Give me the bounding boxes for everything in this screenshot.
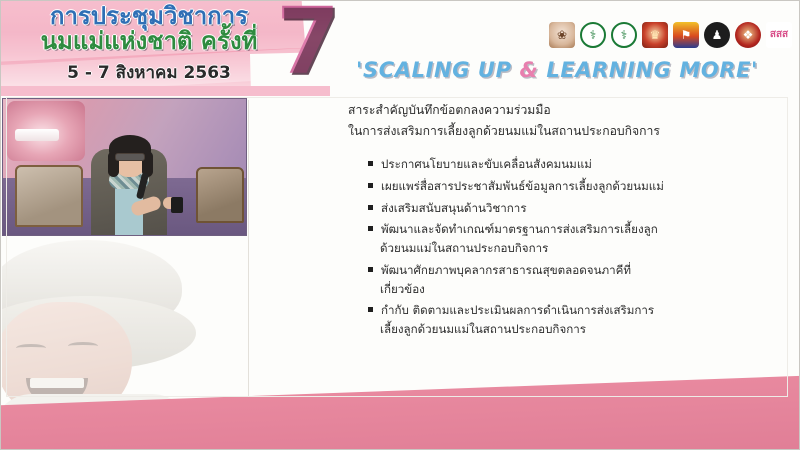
logo-thai-institute-icon: ♟: [704, 22, 730, 48]
bullet-text-primary: กำกับ ติดตามและประเมินผลการดำเนินการส่งเ…: [381, 303, 654, 317]
child-photo-watermark: [2, 238, 247, 408]
bullet-text-continuation: ด้วยนมแม่ในสถานประกอบกิจการ: [380, 239, 780, 258]
slide-content: สาระสำคัญบันทึกข้อตกลงความร่วมมือ ในการส…: [260, 100, 780, 390]
edition-number: 7: [276, 0, 340, 88]
bullet-text-primary: เผยแพร่สื่อสารประชาสัมพันธ์ข้อมูลการเลี้…: [381, 179, 664, 193]
logo-royal-crest-icon: ♛: [642, 22, 668, 48]
column-divider: [248, 100, 249, 400]
media-column: [2, 98, 247, 408]
bullet-text-primary: พัฒนาศักยภาพบุคลากรสาธารณสุขตลอดจนภาคีที…: [381, 263, 631, 277]
logo-health-department-icon: ⚕: [611, 22, 637, 48]
logo-national-emblem-icon: ⚑: [673, 22, 699, 48]
logo-ministry-public-health-icon: ⚕: [580, 22, 606, 48]
child-teeth: [30, 378, 84, 388]
bullet-text-continuation: เลี้ยงลูกด้วยนมแม่ในสถานประกอบกิจการ: [380, 320, 780, 339]
stage-chair-right: [196, 167, 244, 223]
content-heading-line1: สาระสำคัญบันทึกข้อตกลงความร่วมมือ: [348, 100, 780, 121]
speaker-remote-clicker: [171, 197, 183, 213]
child-eye-left: [16, 344, 46, 352]
bullet-text-primary: ประกาศนโยบายและขับเคลื่อนสังคมนมแม่: [381, 157, 592, 171]
list-item: พัฒนาศักยภาพบุคลากรสาธารณสุขตลอดจนภาคีที…: [368, 261, 780, 299]
speaker-glasses: [115, 153, 145, 161]
list-item: กำกับ ติดตามและประเมินผลการดำเนินการส่งเ…: [368, 301, 780, 339]
conference-title-block: การประชุมวิชาการ นมแม่แห่งชาติ ครั้งที่ …: [14, 4, 284, 86]
logo-royal-seal-icon: ❀: [549, 22, 575, 48]
list-item: เผยแพร่สื่อสารประชาสัมพันธ์ข้อมูลการเลี้…: [368, 177, 780, 196]
logo-university-crest-icon: ❖: [735, 22, 761, 48]
tagline-prefix: 'SCALING UP: [356, 58, 520, 82]
agreement-bullet-list: ประกาศนโยบายและขับเคลื่อนสังคมนมแม่ เผยแ…: [260, 155, 780, 339]
content-heading: สาระสำคัญบันทึกข้อตกลงความร่วมมือ ในการส…: [260, 100, 780, 142]
conference-tagline: 'SCALING UP & LEARNING MORE': [356, 58, 758, 82]
conference-title-line2: นมแม่แห่งชาติ ครั้งที่: [14, 29, 284, 55]
partner-logo-row: ❀ ⚕ ⚕ ♛ ⚑ ♟ ❖ สสส: [549, 22, 792, 48]
bullet-text-primary: ส่งเสริมสนับสนุนด้านวิชาการ: [381, 201, 527, 215]
slide-header-banner: การประชุมวิชาการ นมแม่แห่งชาติ ครั้งที่ …: [0, 0, 800, 96]
list-item: ส่งเสริมสนับสนุนด้านวิชาการ: [368, 199, 780, 218]
list-item: พัฒนาและจัดทำเกณฑ์มาตรฐานการส่งเสริมการเ…: [368, 220, 780, 258]
stage-chair-left: [15, 165, 83, 227]
tagline-ampersand: &: [520, 58, 539, 82]
conference-date: 5 - 7 สิงหาคม 2563: [14, 59, 284, 86]
tagline-suffix: LEARNING MORE': [538, 58, 758, 82]
content-heading-line2: ในการส่งเสริมการเลี้ยงลูกด้วยนมแม่ในสถาน…: [348, 121, 780, 142]
bullet-text-continuation: เกี่ยวข้อง: [380, 280, 780, 299]
list-item: ประกาศนโยบายและขับเคลื่อนสังคมนมแม่: [368, 155, 780, 174]
backdrop-poster-teeth: [15, 129, 59, 141]
bullet-text-primary: พัฒนาและจัดทำเกณฑ์มาตรฐานการส่งเสริมการเ…: [381, 222, 658, 236]
child-eye-right: [68, 342, 98, 350]
speaker-video-still: [2, 98, 247, 236]
logo-thaihealth-sss-icon: สสส: [766, 22, 792, 48]
presentation-slide: การประชุมวิชาการ นมแม่แห่งชาติ ครั้งที่ …: [0, 0, 800, 450]
